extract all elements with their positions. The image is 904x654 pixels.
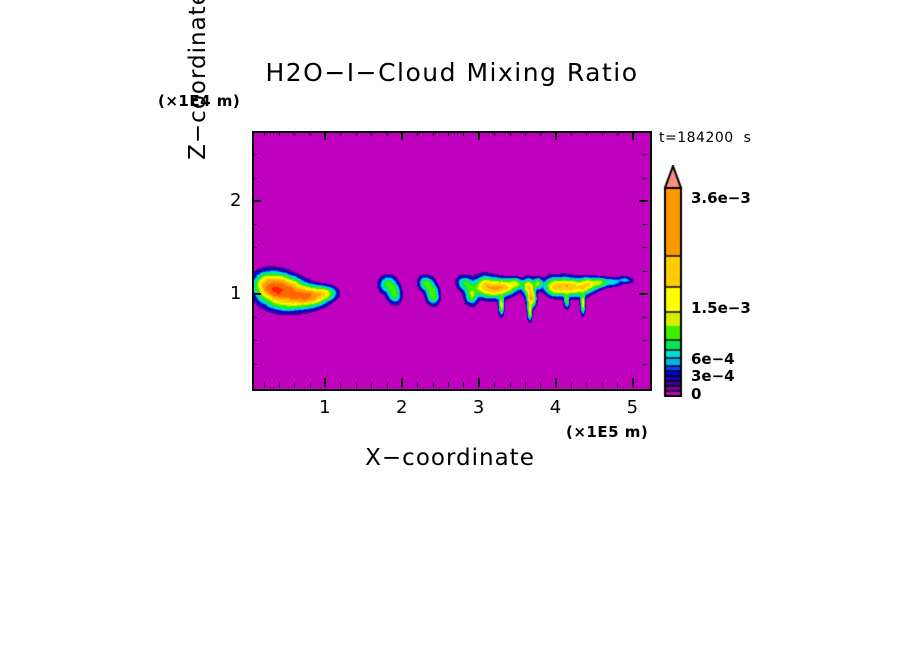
x-tick-minor (340, 131, 341, 136)
x-tick-minor (617, 131, 618, 136)
x-tick-minor (264, 382, 265, 387)
colorbar-tick-label: 1.5e−3 (691, 299, 751, 317)
x-tick-minor (310, 131, 311, 136)
x-tick-minor (525, 382, 526, 387)
y-tick-major (252, 293, 261, 295)
y-tick-minor (252, 224, 257, 225)
x-tick-minor (586, 131, 587, 136)
y-tick-minor (252, 340, 257, 341)
x-tick-minor (448, 382, 449, 387)
x-tick-minor (294, 131, 295, 136)
x-tick-minor (356, 131, 357, 136)
y-tick-minor (643, 224, 648, 225)
x-tick-minor (356, 382, 357, 387)
y-tick-minor (643, 178, 648, 179)
x-tick-minor (571, 382, 572, 387)
x-tick-minor (602, 131, 603, 136)
page-title: H2O−I−Cloud Mixing Ratio (0, 58, 904, 87)
x-tick-minor (510, 131, 511, 136)
y-tick-minor (643, 131, 648, 132)
y-tick-minor (252, 178, 257, 179)
y-tick-minor (643, 317, 648, 318)
x-tick-label: 2 (382, 397, 422, 418)
x-tick-minor (279, 382, 280, 387)
y-tick-minor (643, 154, 648, 155)
colorbar-tick-label: 6e−4 (691, 350, 735, 368)
x-tick-minor (371, 382, 372, 387)
y-axis-title: Z−coordinate (185, 0, 215, 190)
x-tick-major (324, 378, 326, 387)
x-tick-minor (571, 131, 572, 136)
x-tick-major (401, 378, 403, 387)
x-tick-minor (586, 382, 587, 387)
x-axis-title: X−coordinate (252, 445, 648, 471)
x-tick-minor (463, 131, 464, 136)
x-tick-minor (294, 382, 295, 387)
x-tick-minor (494, 131, 495, 136)
x-tick-minor (279, 131, 280, 136)
x-tick-label: 4 (536, 397, 576, 418)
x-tick-minor (602, 382, 603, 387)
y-tick-minor (643, 271, 648, 272)
y-tick-minor (252, 364, 257, 365)
timestamp-annotation: t=184200 s (659, 130, 751, 146)
y-tick-major-right (639, 200, 648, 202)
x-tick-minor (340, 382, 341, 387)
x-tick-minor (387, 131, 388, 136)
y-tick-minor (643, 364, 648, 365)
x-tick-major (632, 378, 634, 387)
x-tick-label: 5 (613, 397, 653, 418)
x-tick-major (478, 378, 480, 387)
colorbar-tick-label: 0 (691, 385, 701, 403)
y-tick-label: 2 (220, 190, 242, 211)
y-tick-minor (643, 247, 648, 248)
y-tick-minor (252, 317, 257, 318)
x-tick-minor (433, 382, 434, 387)
x-tick-minor (417, 131, 418, 136)
y-tick-minor (252, 271, 257, 272)
x-tick-minor (617, 382, 618, 387)
x-tick-label: 1 (305, 397, 345, 418)
x-tick-major (555, 378, 557, 387)
x-axis-units-label: (×1E5 m) (566, 423, 648, 441)
y-tick-minor (643, 340, 648, 341)
y-tick-label: 1 (220, 283, 242, 304)
y-tick-major-right (639, 293, 648, 295)
x-tick-minor (433, 131, 434, 136)
x-tick-minor (448, 131, 449, 136)
contour-field (254, 133, 650, 389)
x-tick-major-top (632, 131, 634, 140)
x-tick-minor (525, 131, 526, 136)
x-tick-minor (310, 382, 311, 387)
x-tick-minor (463, 382, 464, 387)
x-tick-major-top (555, 131, 557, 140)
y-tick-minor (252, 131, 257, 132)
x-tick-minor (387, 382, 388, 387)
x-tick-major-top (324, 131, 326, 140)
y-tick-minor (252, 247, 257, 248)
plot-area (252, 131, 652, 391)
colorbar (662, 165, 684, 397)
colorbar-swatches (662, 165, 684, 397)
x-tick-minor (510, 382, 511, 387)
colorbar-tick-label: 3.6e−3 (691, 189, 751, 207)
x-tick-minor (540, 131, 541, 136)
x-tick-major-top (401, 131, 403, 140)
y-tick-minor (252, 154, 257, 155)
x-tick-minor (494, 382, 495, 387)
x-tick-label: 3 (459, 397, 499, 418)
colorbar-tick-label: 3e−4 (691, 367, 735, 385)
y-tick-major (252, 200, 261, 202)
x-tick-minor (264, 131, 265, 136)
x-tick-minor (540, 382, 541, 387)
figure-canvas: H2O−I−Cloud Mixing Ratio (×1E4 m) t=1842… (0, 0, 904, 654)
x-tick-major-top (478, 131, 480, 140)
x-tick-minor (371, 131, 372, 136)
x-tick-minor (417, 382, 418, 387)
